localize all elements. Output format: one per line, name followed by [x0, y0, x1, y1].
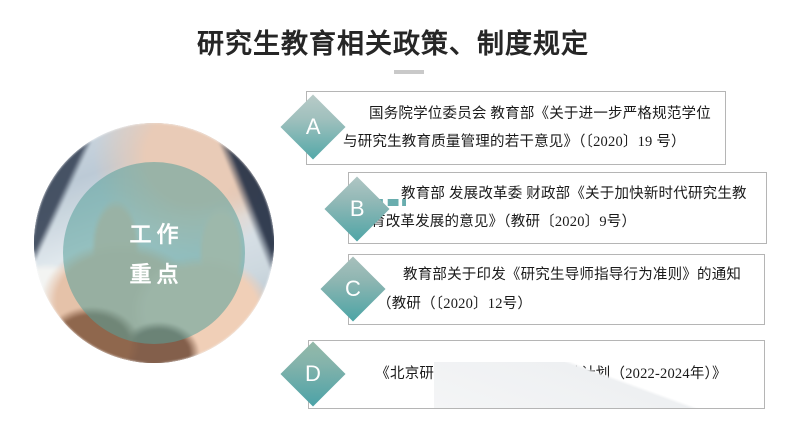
page-title: 研究生教育相关政策、制度规定	[0, 22, 786, 61]
policy-item-d[interactable]: 《北京研究生教育质量提升行动计划（2022-2024年）》	[308, 340, 765, 409]
policy-item-a-text: 国务院学位委员会 教育部《关于进一步严格规范学位与研究生教育质量管理的若干意见》…	[343, 100, 717, 157]
badge-letter-d: D	[305, 363, 321, 385]
badge-letter-c: C	[345, 278, 361, 300]
highlight-label-line-1: 工作	[124, 217, 183, 249]
highlight-label-line-2: 重点	[124, 257, 183, 289]
title-underline-accent	[394, 70, 424, 74]
policy-item-b[interactable]: 教育部 发展改革委 财政部《关于加快新时代研究生教育改革发展的意见》（教研〔20…	[348, 172, 767, 244]
slide-canvas: 研究生教育相关政策、制度规定 工作 重点 国务院学位委员会 教育部《关于进一步严…	[0, 0, 786, 428]
policy-item-b-text: 教育部 发展改革委 财政部《关于加快新时代研究生教育改革发展的意见》（教研〔20…	[371, 180, 755, 237]
policy-item-a[interactable]: 国务院学位委员会 教育部《关于进一步严格规范学位与研究生教育质量管理的若干意见》…	[306, 91, 726, 165]
badge-letter-a: A	[306, 116, 321, 138]
policy-item-c[interactable]: 教育部关于印发《研究生导师指导行为准则》的通知（教研（〔2020〕12号）	[348, 254, 765, 325]
badge-letter-b: B	[350, 198, 365, 220]
policy-item-c-text: 教育部关于印发《研究生导师指导行为准则》的通知（教研（〔2020〕12号）	[377, 261, 753, 318]
highlight-overlay-disc: 工作 重点	[63, 162, 245, 344]
policy-item-d-text: 《北京研究生教育质量提升行动计划（2022-2024年）》	[345, 360, 757, 388]
